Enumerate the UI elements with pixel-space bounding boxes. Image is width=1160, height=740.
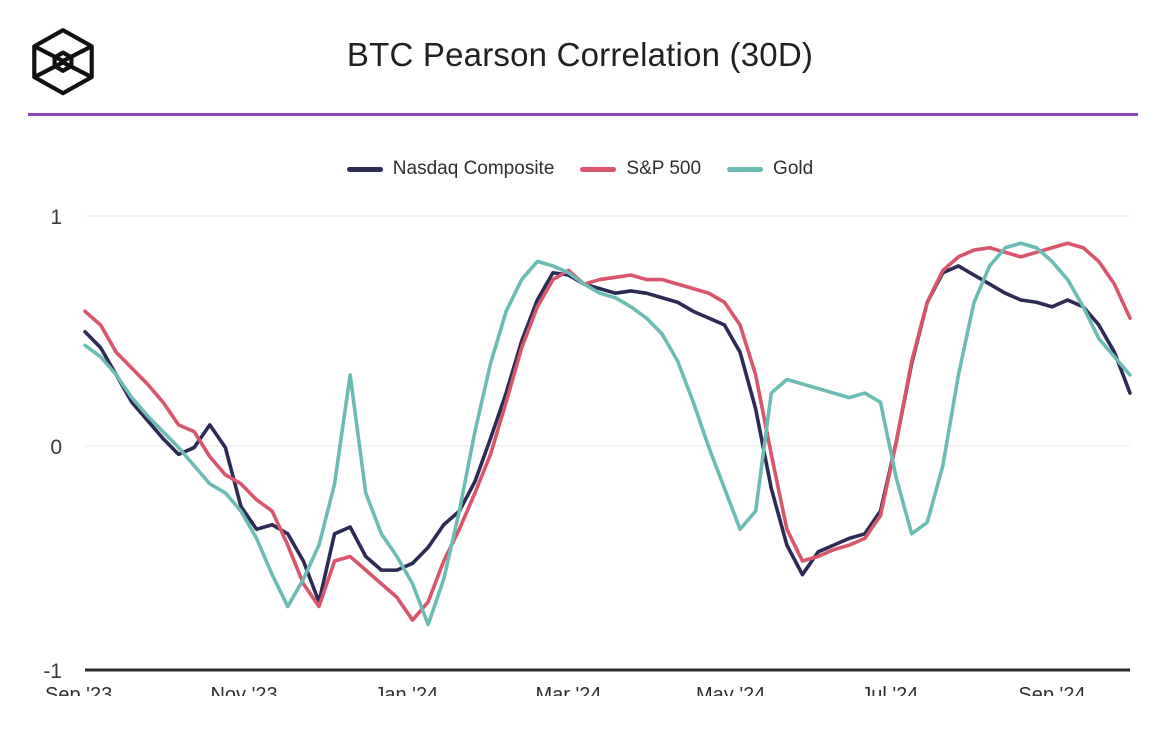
y-tick-label: -1	[43, 660, 62, 683]
series-line-nasdaq-composite	[85, 266, 1130, 602]
series-paths	[85, 243, 1130, 624]
page-header: BTC Pearson Correlation (30D)	[0, 0, 1160, 114]
legend-item-sp500[interactable]: S&P 500	[580, 158, 701, 180]
legend-item-nasdaq[interactable]: Nasdaq Composite	[347, 158, 555, 180]
x-tick-label: Sep '23	[45, 684, 112, 696]
x-tick-label: Sep '24	[1018, 684, 1085, 696]
header-divider	[28, 113, 1138, 116]
y-tick-label: 0	[50, 436, 62, 459]
line-swatch-icon	[727, 167, 763, 172]
line-swatch-icon	[347, 167, 383, 172]
page-title: BTC Pearson Correlation (30D)	[0, 36, 1160, 74]
x-tick-labels: Sep '23Nov '23Jan '24Mar '24May '24Jul '…	[45, 684, 1086, 696]
chart-plot-area: 1 0 -1 Sep '23Nov '23Jan '24Mar '24May '…	[0, 196, 1160, 696]
y-tick-labels: 1 0 -1	[43, 206, 62, 683]
legend-label-sp500: S&P 500	[626, 158, 701, 180]
legend-label-nasdaq: Nasdaq Composite	[393, 158, 555, 180]
legend-item-gold[interactable]: Gold	[727, 158, 813, 180]
line-chart[interactable]: 1 0 -1 Sep '23Nov '23Jan '24Mar '24May '…	[0, 196, 1160, 696]
x-tick-label: Jan '24	[374, 684, 438, 696]
chart-page: BTC Pearson Correlation (30D) Nasdaq Com…	[0, 0, 1160, 740]
line-swatch-icon	[580, 167, 616, 172]
y-tick-label: 1	[50, 206, 62, 229]
x-tick-label: May '24	[696, 684, 765, 696]
x-tick-label: Mar '24	[535, 684, 601, 696]
chart-legend: Nasdaq Composite S&P 500 Gold	[0, 158, 1160, 180]
series-line-gold	[85, 243, 1130, 624]
legend-label-gold: Gold	[773, 158, 813, 180]
x-tick-label: Nov '23	[210, 684, 277, 696]
x-tick-label: Jul '24	[861, 684, 918, 696]
